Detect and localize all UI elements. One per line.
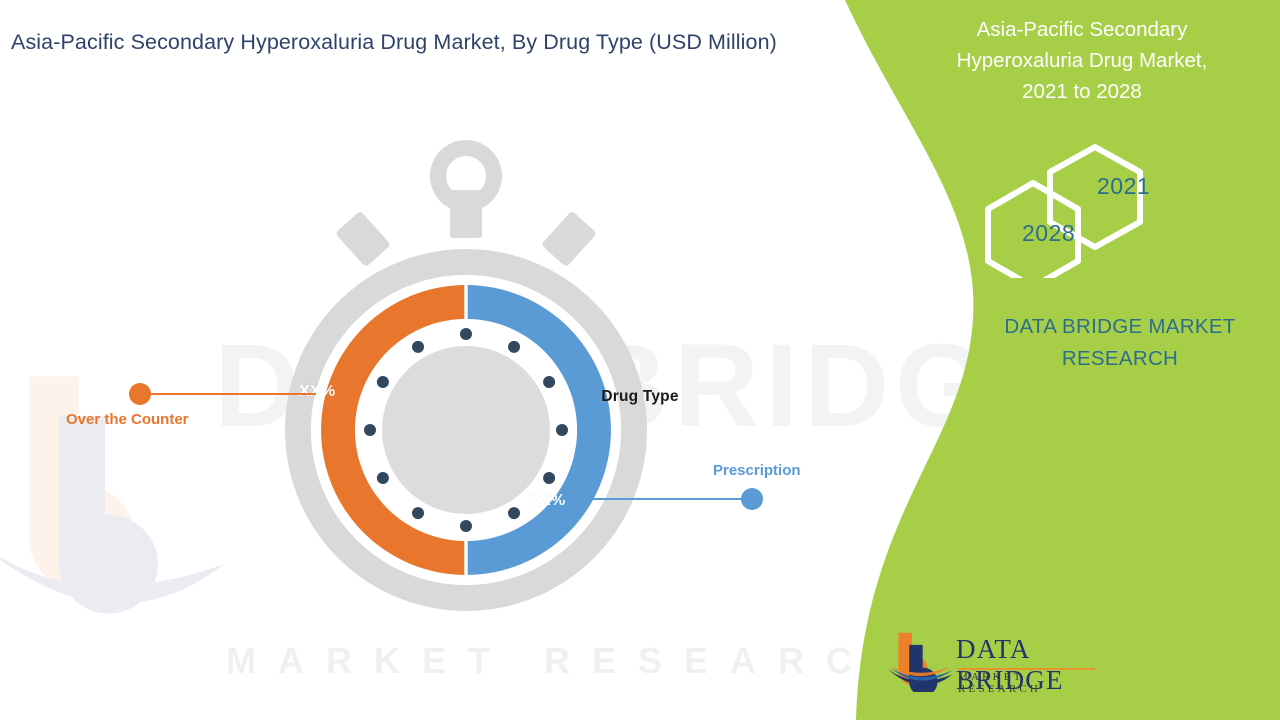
slice-value-prescription: XX%: [529, 492, 565, 510]
hexagon-label-2021: 2021: [1097, 173, 1150, 200]
slice-value-over-the-counter: XX%: [299, 383, 335, 401]
panel-title-line-3: 2021 to 2028: [928, 76, 1236, 107]
callout-line-over-the-counter: [148, 393, 316, 395]
panel-title: Asia-Pacific Secondary Hyperoxaluria Dru…: [928, 14, 1236, 107]
callout-label-over-the-counter: Over the Counter: [66, 411, 189, 428]
logo-divider: [958, 668, 1095, 670]
callout-dot-prescription: [741, 488, 763, 510]
brand-name-line-1: DATA BRIDGE MARKET: [960, 311, 1280, 343]
drug-type-donut-chart: [236, 130, 696, 620]
logo-mark-icon: [886, 630, 954, 692]
callout-label-prescription: Prescription: [713, 462, 801, 479]
page-title: Asia-Pacific Secondary Hyperoxaluria Dru…: [11, 30, 777, 55]
infographic-canvas: DATA BRIDGE MARKET RESEARCH Asia-Pacific…: [0, 0, 1280, 720]
donut-center-label: Drug Type: [0, 388, 1280, 406]
brand-name: DATA BRIDGE MARKET RESEARCH: [960, 311, 1280, 375]
callout-dot-over-the-counter: [129, 383, 151, 405]
donut-center-hub: [382, 346, 550, 514]
hexagon-label-2028: 2028: [1022, 220, 1075, 247]
panel-title-line-2: Hyperoxaluria Drug Market,: [928, 45, 1236, 76]
panel-title-line-1: Asia-Pacific Secondary: [928, 14, 1236, 45]
company-logo: DATA BRIDGE MARKET RESEARCH: [886, 626, 1111, 704]
logo-tagline: MARKET RESEARCH: [958, 671, 1111, 695]
year-hexagons: [985, 143, 1175, 278]
brand-name-line-2: RESEARCH: [960, 343, 1280, 375]
callout-line-prescription: [560, 498, 745, 500]
stopwatch-crown-icon: [430, 140, 502, 238]
